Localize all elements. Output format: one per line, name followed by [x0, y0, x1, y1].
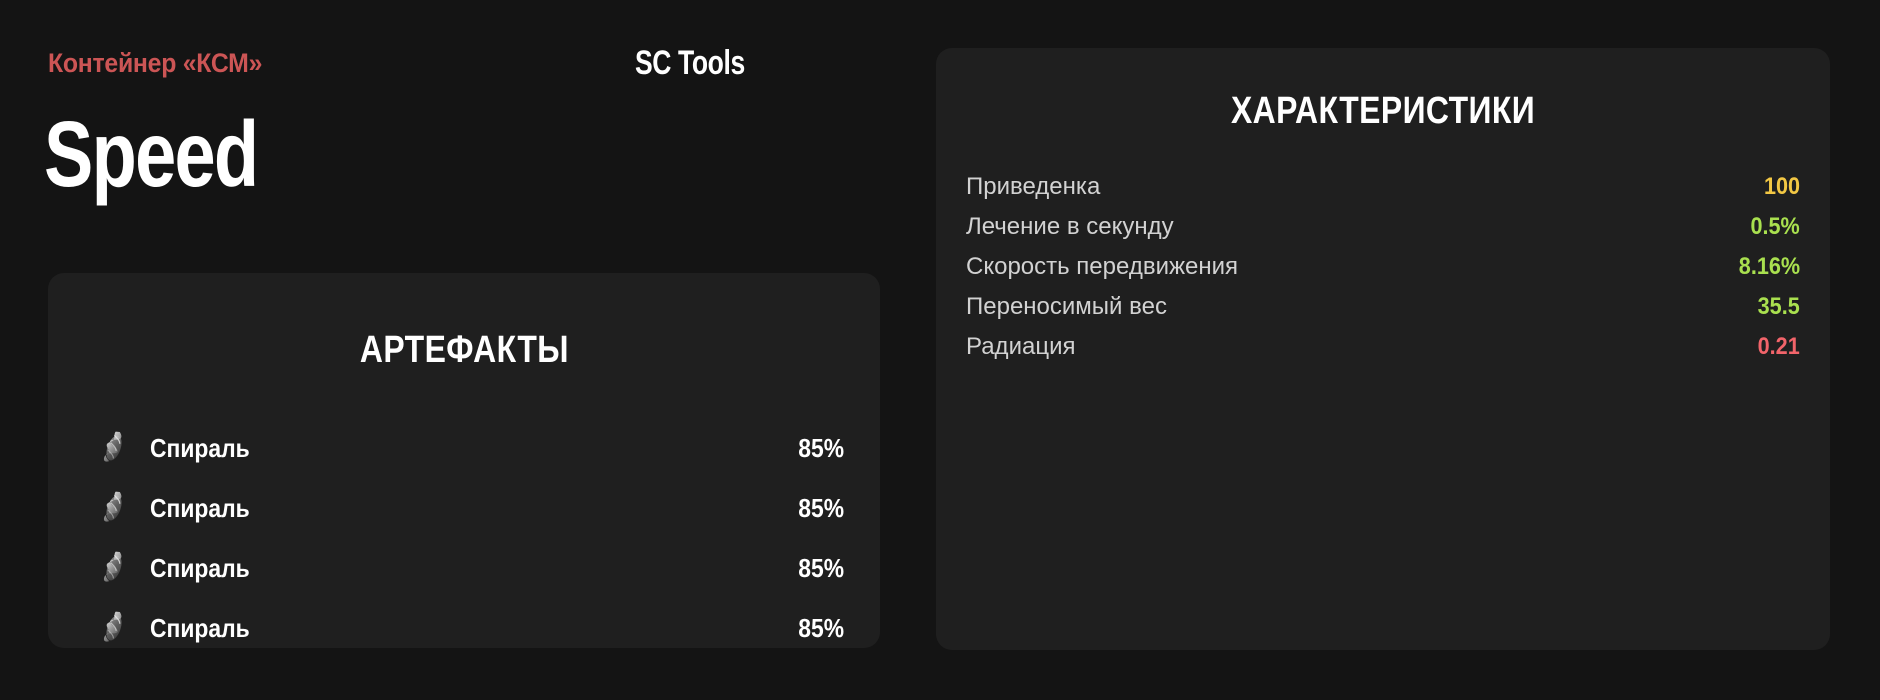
artifact-name: Спираль	[150, 433, 792, 464]
artifact-value-text: 85%	[798, 493, 844, 524]
artifact-value: 85%	[792, 553, 844, 584]
stat-value: 8.16%	[1732, 253, 1800, 281]
container-label: Контейнер «КСМ»	[48, 48, 262, 79]
artifact-value-text: 85%	[798, 613, 844, 644]
stat-value: 0.21	[1753, 333, 1800, 361]
artifact-name-text: Спираль	[150, 553, 250, 584]
artifact-value: 85%	[792, 613, 844, 644]
artifact-name-text: Спираль	[150, 433, 250, 464]
stat-label: Переносимый вес	[966, 293, 1753, 321]
page-title: Speed	[44, 108, 257, 201]
stat-value-text: 35.5	[1758, 293, 1800, 321]
stat-label: Радиация	[966, 333, 1753, 361]
stat-value: 35.5	[1753, 293, 1800, 321]
stats-panel: ХАРАКТЕРИСТИКИ Приведенка 100 Лечение в …	[936, 48, 1830, 650]
stat-value-text: 0.21	[1758, 333, 1800, 361]
build-summary-card: Контейнер «КСМ» SC Tools Speed АРТЕФАКТЫ	[0, 0, 1880, 700]
artifact-name: Спираль	[150, 553, 792, 584]
stats-panel-heading-text: ХАРАКТЕРИСТИКИ	[1231, 90, 1535, 133]
header: Контейнер «КСМ» SC Tools	[48, 48, 888, 88]
artifact-row[interactable]: Спираль 85%	[94, 418, 844, 478]
stat-list: Приведенка 100 Лечение в секунду 0.5% Ск…	[966, 173, 1800, 373]
spiral-artifact-icon	[94, 608, 134, 648]
artifact-name: Спираль	[150, 613, 792, 644]
left-column: Контейнер «КСМ» SC Tools Speed АРТЕФАКТЫ	[0, 0, 920, 700]
stats-panel-heading: ХАРАКТЕРИСТИКИ	[936, 90, 1830, 133]
stat-row: Переносимый вес 35.5	[966, 293, 1800, 333]
artifact-list: Спираль 85%	[94, 418, 844, 658]
stat-value: 100	[1760, 173, 1800, 201]
brand-logo: SC Tools	[635, 44, 745, 83]
stat-value: 0.5%	[1745, 213, 1800, 241]
spiral-artifact-icon	[94, 428, 134, 468]
artifact-name: Спираль	[150, 493, 792, 524]
artifact-value: 85%	[792, 433, 844, 464]
artifact-row[interactable]: Спираль 85%	[94, 478, 844, 538]
stat-row: Приведенка 100	[966, 173, 1800, 213]
artifact-name-text: Спираль	[150, 493, 250, 524]
artifact-value-text: 85%	[798, 553, 844, 584]
artifact-row[interactable]: Спираль 85%	[94, 538, 844, 598]
artifact-value: 85%	[792, 493, 844, 524]
stat-row: Скорость передвижения 8.16%	[966, 253, 1800, 293]
stat-label: Приведенка	[966, 173, 1760, 201]
stat-value-text: 8.16%	[1739, 253, 1800, 281]
artifact-value-text: 85%	[798, 433, 844, 464]
artifacts-panel-heading: АРТЕФАКТЫ	[48, 329, 880, 372]
artifact-name-text: Спираль	[150, 613, 250, 644]
stat-label: Скорость передвижения	[966, 253, 1732, 281]
spiral-artifact-icon	[94, 548, 134, 588]
stat-row: Радиация 0.21	[966, 333, 1800, 373]
artifact-row[interactable]: Спираль 85%	[94, 598, 844, 658]
artifacts-panel-heading-text: АРТЕФАКТЫ	[359, 329, 568, 372]
spiral-artifact-icon	[94, 488, 134, 528]
stat-value-text: 0.5%	[1751, 213, 1800, 241]
stat-row: Лечение в секунду 0.5%	[966, 213, 1800, 253]
stat-value-text: 100	[1764, 173, 1800, 201]
stat-label: Лечение в секунду	[966, 213, 1745, 241]
artifacts-panel: АРТЕФАКТЫ	[48, 273, 880, 648]
